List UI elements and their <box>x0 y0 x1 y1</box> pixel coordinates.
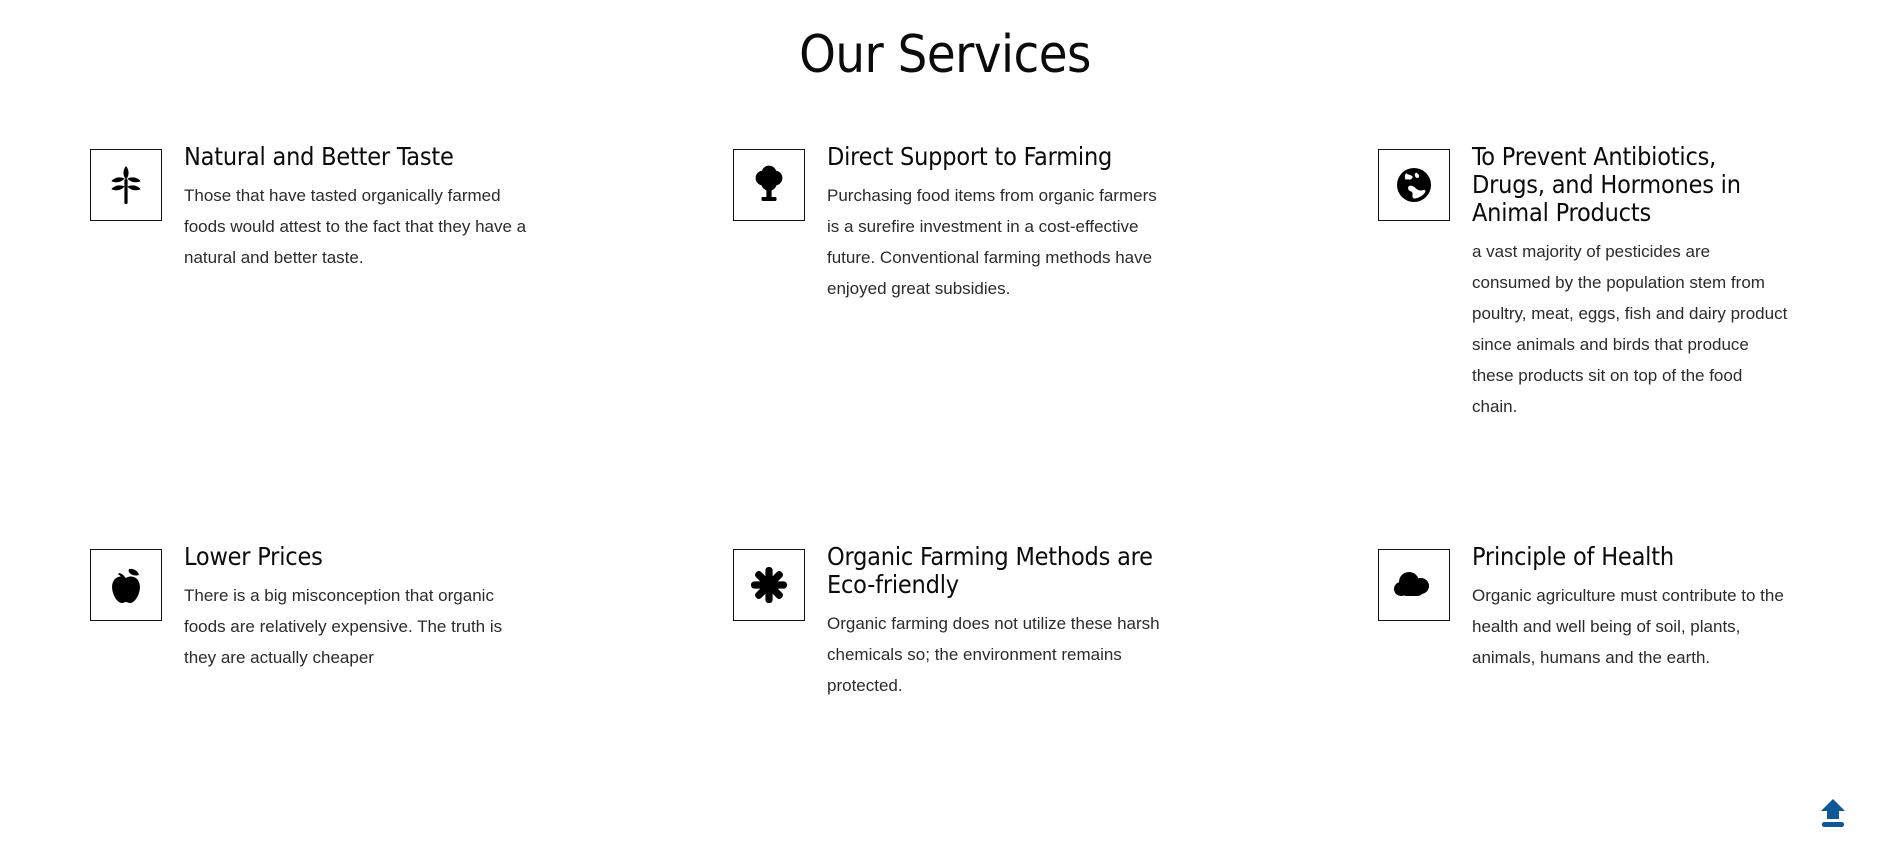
scroll-to-top-icon <box>1816 796 1850 833</box>
card-body: To Prevent Antibiotics, Drugs, and Hormo… <box>1472 143 1790 422</box>
service-card-natural-and-better-taste[interactable]: Natural and Better Taste Those that have… <box>90 143 660 543</box>
service-card-lower-prices[interactable]: Lower Prices There is a big misconceptio… <box>90 543 660 701</box>
card-text: a vast majority of pesticides are consum… <box>1472 236 1790 422</box>
tree-icon <box>751 165 787 205</box>
icon-box <box>90 549 162 621</box>
card-title: Direct Support to Farming <box>827 143 1166 171</box>
icon-box <box>1378 549 1450 621</box>
cloud-icon <box>1393 570 1435 600</box>
scroll-to-top-button[interactable] <box>1810 791 1856 837</box>
card-title: Natural and Better Taste <box>184 143 596 171</box>
card-text: Organic agriculture must contribute to t… <box>1472 580 1790 673</box>
card-title: Principle of Health <box>1472 543 1790 571</box>
icon-box <box>733 549 805 621</box>
card-title: Organic Farming Methods are Eco-friendly <box>827 543 1166 599</box>
service-card-direct-support-to-farming[interactable]: Direct Support to Farming Purchasing foo… <box>660 143 1230 543</box>
card-text: Purchasing food items from organic farme… <box>827 180 1166 304</box>
card-text: Organic farming does not utilize these h… <box>827 608 1166 701</box>
icon-box <box>1378 149 1450 221</box>
card-body: Natural and Better Taste Those that have… <box>184 143 596 273</box>
card-text: Those that have tasted organically farme… <box>184 180 529 273</box>
apple-icon <box>107 565 145 605</box>
service-card-organic-farming-methods[interactable]: Organic Farming Methods are Eco-friendly… <box>660 543 1230 701</box>
services-page: Our Services <box>0 0 1890 853</box>
service-card-to-prevent-antibiotics[interactable]: To Prevent Antibiotics, Drugs, and Hormo… <box>1230 143 1800 543</box>
service-card-principle-of-health[interactable]: Principle of Health Organic agriculture … <box>1230 543 1800 701</box>
card-title: To Prevent Antibiotics, Drugs, and Hormo… <box>1472 143 1790 227</box>
icon-box <box>733 149 805 221</box>
card-body: Lower Prices There is a big misconceptio… <box>184 543 596 673</box>
card-title: Lower Prices <box>184 543 596 571</box>
wheat-sprig-icon <box>109 165 143 205</box>
card-body: Principle of Health Organic agriculture … <box>1472 543 1790 673</box>
card-body: Direct Support to Farming Purchasing foo… <box>827 143 1166 304</box>
page-title: Our Services <box>0 0 1890 83</box>
globe-icon <box>1395 166 1433 204</box>
icon-box <box>90 149 162 221</box>
asterisk-flower-icon <box>750 566 788 604</box>
card-body: Organic Farming Methods are Eco-friendly… <box>827 543 1166 701</box>
card-text: There is a big misconception that organi… <box>184 580 529 673</box>
services-grid: Natural and Better Taste Those that have… <box>0 83 1890 701</box>
